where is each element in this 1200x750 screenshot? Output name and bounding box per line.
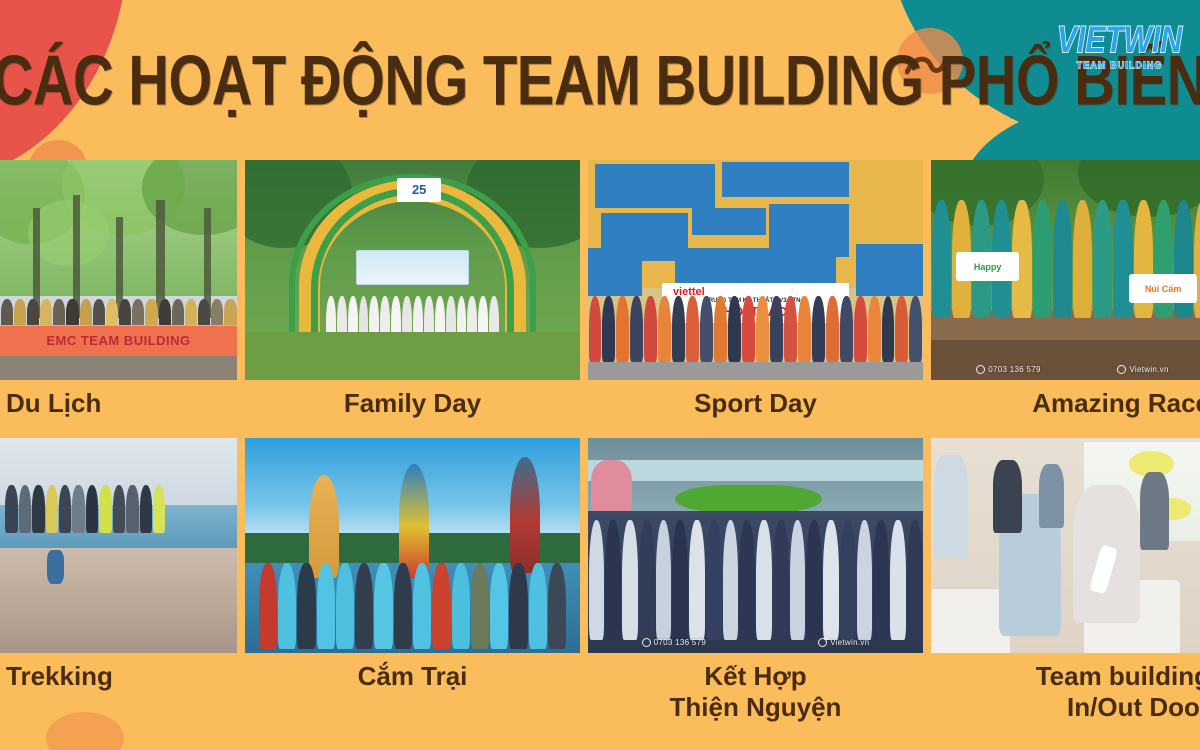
photo-team-building-indoor: [931, 438, 1200, 653]
event-banner: EMC TEAM BUILDING: [0, 325, 237, 356]
pink-canopy: [591, 460, 631, 512]
participant: [993, 460, 1021, 533]
cooking-pots-row: [931, 340, 1200, 380]
caption-line-2: Thiện Nguyện: [670, 692, 842, 722]
card-photo-amazing-race[interactable]: Happy Núi Cấm 0703 136 579 Vietwin.vn: [931, 160, 1200, 380]
watermark-site-text: Vietwin.vn: [1129, 365, 1168, 374]
card-photo-family-day[interactable]: 25: [245, 160, 580, 380]
sign-nui-cam: Núi Cấm: [1129, 274, 1197, 303]
poster-canvas: VIETWIN TEAM BUILDING CÁC HOẠT ĐỘNG TEAM…: [0, 0, 1200, 750]
watermark-site: Vietwin.vn: [818, 638, 869, 647]
card-caption-sport-day: Sport Day: [588, 380, 923, 438]
card-photo-ket-hop-thien-nguyen[interactable]: 0703 136 579 Vietwin.vn: [588, 438, 923, 653]
crowd-row: [258, 563, 566, 649]
stadium-seats-blue: [692, 208, 766, 234]
photo-cam-trai: [245, 438, 580, 653]
card-photo-du-lich[interactable]: EMC TEAM BUILDING: [0, 160, 237, 380]
globe-icon: [1117, 365, 1126, 374]
photo-ket-hop-thien-nguyen: 0703 136 579 Vietwin.vn: [588, 438, 923, 653]
stadium-seats-blue: [588, 248, 642, 296]
arch-number-sign: 25: [397, 178, 441, 202]
photo-sport-day: viettel TRUNG TÂM KỸ THUẬT KV3-VTNet HỘI…: [588, 160, 923, 380]
stage-banner: [356, 250, 470, 285]
photo-amazing-race: Happy Núi Cấm 0703 136 579 Vietwin.vn: [931, 160, 1200, 380]
phone-icon: [976, 365, 985, 374]
activity-grid: EMC TEAM BUILDING 25: [0, 160, 1200, 722]
watermark-phone: 0703 136 579: [976, 365, 1041, 374]
phone-icon: [642, 638, 651, 647]
rocky-cliff: [0, 548, 237, 653]
watermark-site: Vietwin.vn: [1117, 365, 1168, 374]
poster-header: CÁC HOẠT ĐỘNG TEAM BUILDING PHỔ BIẾN: [0, 0, 1200, 160]
card-caption-amazing-race: Amazing Race: [931, 380, 1200, 438]
card-photo-trekking[interactable]: [0, 438, 237, 653]
building-roof: [588, 460, 923, 482]
page-title: CÁC HOẠT ĐỘNG TEAM BUILDING PHỔ BIẾN: [0, 39, 1200, 121]
watermark-site-text: Vietwin.vn: [830, 638, 869, 647]
logo-tagline: TEAM BUILDING: [1057, 60, 1182, 70]
stadium-track: [588, 362, 923, 380]
photo-family-day: 25: [245, 160, 580, 380]
watermark-phone: 0703 136 579: [642, 638, 707, 647]
participant: [934, 455, 968, 558]
watermark-phone-text: 0703 136 579: [988, 365, 1041, 374]
crowd-row: [588, 296, 923, 362]
participant: [1140, 472, 1168, 549]
caption-line-1: Kết Hợp: [704, 661, 806, 691]
stadium-seats-blue: [722, 162, 849, 197]
stadium-seats-blue: [595, 164, 716, 208]
climber: [47, 550, 64, 584]
card-caption-team-building-indoor: Team building In/Out Door: [931, 653, 1200, 722]
paddle-board: [510, 457, 540, 573]
photo-trekking: [0, 438, 237, 653]
tree-foliage: [28, 200, 109, 266]
card-caption-family-day: Family Day: [245, 380, 580, 438]
crowd-row: [5, 485, 166, 532]
card-photo-cam-trai[interactable]: [245, 438, 580, 653]
stadium-seats-blue: [856, 244, 923, 297]
card-caption-ket-hop-thien-nguyen: Kết Hợp Thiện Nguyện: [588, 653, 923, 722]
caption-line-1: Team building: [1036, 661, 1200, 691]
card-caption-cam-trai: Cắm Trại: [245, 653, 580, 722]
card-caption-trekking: Trekking: [0, 653, 237, 722]
vietwin-logo[interactable]: VIETWIN TEAM BUILDING: [1057, 22, 1182, 70]
card-photo-team-building-indoor[interactable]: [931, 438, 1200, 653]
caption-line-2: In/Out Door: [1067, 692, 1200, 722]
logo-wordmark: VIETWIN: [1057, 22, 1182, 60]
crowd-row: [0, 299, 237, 328]
green-inflatable: [675, 485, 822, 513]
card-photo-sport-day[interactable]: viettel TRUNG TÂM KỸ THUẬT KV3-VTNet HỘI…: [588, 160, 923, 380]
photo-du-lich: EMC TEAM BUILDING: [0, 160, 237, 380]
grass-lawn: [245, 332, 580, 380]
participant: [1039, 464, 1064, 529]
paddle-board: [399, 464, 429, 578]
crowd-row: [588, 520, 923, 640]
globe-icon: [818, 638, 827, 647]
card-caption-du-lich: Du Lịch: [0, 380, 237, 438]
sign-happy: Happy: [956, 252, 1018, 281]
watermark-phone-text: 0703 136 579: [654, 638, 707, 647]
